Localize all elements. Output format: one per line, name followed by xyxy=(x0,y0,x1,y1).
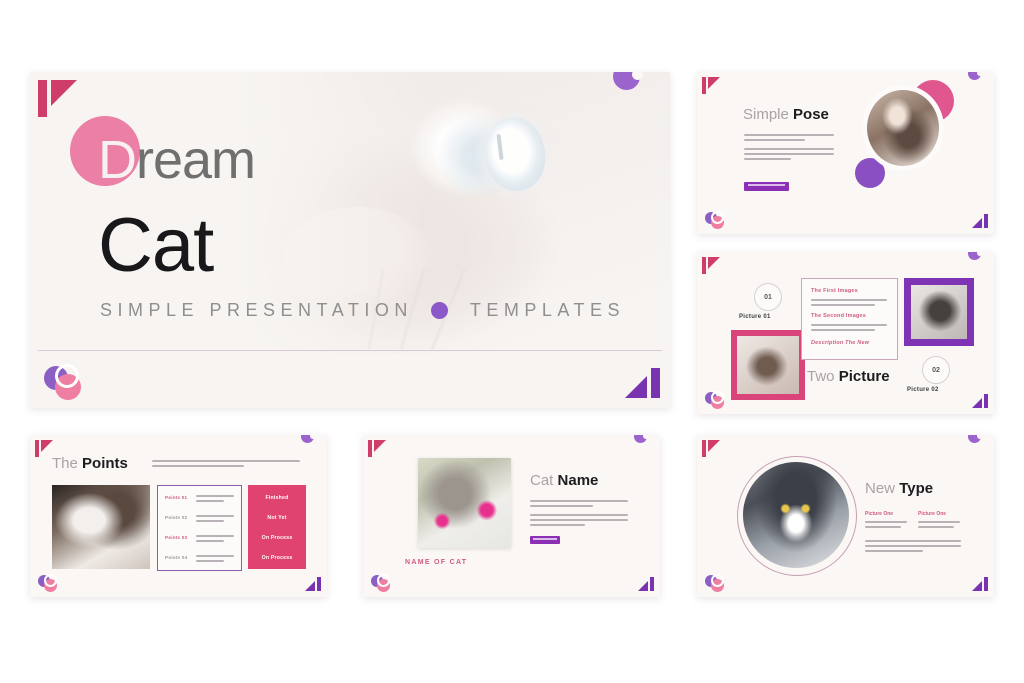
hero-title-cat: Cat xyxy=(98,207,213,285)
hero-subtitle: SIMPLE PRESENTATION TEMPLATES xyxy=(100,300,625,321)
body-line xyxy=(196,500,224,502)
column-1-heading: Picture One xyxy=(865,511,893,517)
slide-title-bold: Type xyxy=(899,480,933,497)
hero-divider xyxy=(38,350,662,351)
body-line xyxy=(744,153,834,155)
ornament-blob-bottom-left xyxy=(37,573,59,592)
column-2-body xyxy=(918,521,960,528)
slide-title-bold: Name xyxy=(558,472,599,489)
column-1-body xyxy=(865,521,907,528)
slide-title: New Type xyxy=(865,480,933,497)
body-line xyxy=(196,495,234,497)
body-line xyxy=(152,465,244,467)
body-line xyxy=(865,540,961,542)
slide-title: The Points xyxy=(52,455,128,472)
ornament-blob-bottom-left xyxy=(704,573,726,592)
hero-title-accent-letter: D xyxy=(98,130,136,190)
slide-cat-name[interactable]: NAME OF CAT Cat Name xyxy=(363,435,660,597)
body-line xyxy=(530,524,585,526)
body-paragraphs xyxy=(530,500,628,526)
body-line xyxy=(918,526,954,528)
point-label-4: Points 04 xyxy=(165,555,187,560)
marker-circle-01: 01 xyxy=(754,283,782,311)
body-line xyxy=(530,505,593,507)
slide-title-light: The xyxy=(52,455,78,472)
body-line xyxy=(865,521,907,523)
body-line xyxy=(811,324,887,326)
hero-subtitle-right: TEMPLATES xyxy=(470,300,625,321)
heading-second-images: The Second Images xyxy=(811,313,866,319)
slide-new-type[interactable]: New Type Picture One Picture One xyxy=(697,435,994,597)
slide-title-light: Simple xyxy=(743,106,789,123)
ornament-dot-top-right xyxy=(968,72,981,80)
slide-title-bold: Points xyxy=(82,455,128,472)
kitten-photo xyxy=(867,90,939,166)
ornament-blob-bottom-left xyxy=(704,390,726,409)
slide-title: Two Picture xyxy=(807,368,890,385)
presentation-preview-board: Dream Cat SIMPLE PRESENTATION TEMPLATES xyxy=(0,0,1024,683)
ornament-dot-top-right xyxy=(968,252,981,260)
body-line xyxy=(865,550,923,552)
slide-title: Simple Pose xyxy=(743,106,829,123)
marker-label-01: Picture 01 xyxy=(739,314,771,320)
heading-description: Description The New xyxy=(811,340,869,346)
body-line xyxy=(530,519,628,521)
body-line xyxy=(811,304,875,306)
points-list-box: Points 01 Points 02 Points 03 Points 04 xyxy=(157,485,242,571)
body-line xyxy=(865,545,961,547)
purple-dot-icon xyxy=(431,302,448,319)
hero-subtitle-left: SIMPLE PRESENTATION xyxy=(100,300,413,321)
body-line xyxy=(196,560,224,562)
body-line xyxy=(918,521,960,523)
ornament-blob-bottom-left xyxy=(42,362,86,400)
ornament-blob-bottom-left xyxy=(704,210,726,229)
marker-label-02: Picture 02 xyxy=(907,387,939,393)
slide-title-bold: Pose xyxy=(793,106,829,123)
point-label-3: Points 03 xyxy=(165,535,187,540)
more-info-button[interactable] xyxy=(530,536,560,544)
status-badge: On Process xyxy=(248,535,306,541)
button-label-bar xyxy=(748,184,785,186)
slide-title: Cat Name xyxy=(530,472,598,489)
slide-simple-pose[interactable]: Simple Pose xyxy=(697,72,994,234)
body-line xyxy=(196,515,234,517)
sleeping-cat-photo xyxy=(52,485,150,569)
slide-two-picture[interactable]: 01 Picture 01 02 Picture 02 The First Im… xyxy=(697,252,994,414)
marker-circle-02: 02 xyxy=(922,356,950,384)
status-badge: On Process xyxy=(248,555,306,561)
body-line xyxy=(530,500,628,502)
slide-title-light: Cat xyxy=(530,472,553,489)
body-line xyxy=(865,526,901,528)
hero-title-rest: ream xyxy=(136,130,255,190)
footer-paragraph xyxy=(865,540,961,552)
body-line xyxy=(744,158,791,160)
photo-caption: NAME OF CAT xyxy=(405,559,467,566)
body-line xyxy=(744,139,805,141)
ornament-dot-top-right xyxy=(301,435,314,443)
kitten-toy-photo xyxy=(418,458,511,548)
body-line xyxy=(530,514,628,516)
description-box: The First Images The Second Images Descr… xyxy=(801,278,898,360)
slide-the-points[interactable]: The Points Points 01 Points 02 Points 03… xyxy=(30,435,327,597)
body-line xyxy=(196,535,234,537)
hero-title-dream: Dream xyxy=(98,132,255,188)
ornament-blob-bottom-left xyxy=(370,573,392,592)
heading-first-images: The First Images xyxy=(811,288,858,294)
decor-circle-purple xyxy=(855,158,885,188)
slide-title-light: New xyxy=(865,480,895,497)
intro-paragraph xyxy=(152,460,300,467)
body-line xyxy=(196,520,224,522)
body-paragraphs xyxy=(744,134,834,160)
photo-right-purple-frame xyxy=(904,278,974,346)
status-badge: Finished xyxy=(248,495,306,501)
status-column: Finished Not Yet On Process On Process xyxy=(248,485,306,569)
slide-dream-cat-title[interactable]: Dream Cat SIMPLE PRESENTATION TEMPLATES xyxy=(30,72,670,408)
slide-title-bold: Picture xyxy=(839,368,890,385)
body-line xyxy=(744,134,834,136)
button-label-bar xyxy=(533,538,557,540)
read-more-button[interactable] xyxy=(744,182,789,191)
body-line xyxy=(811,329,875,331)
status-badge: Not Yet xyxy=(248,515,306,521)
body-line xyxy=(811,299,887,301)
body-line xyxy=(196,540,224,542)
body-line xyxy=(152,460,300,462)
slide-title-light: Two xyxy=(807,368,835,385)
point-label-1: Points 01 xyxy=(165,495,187,500)
body-line xyxy=(196,555,234,557)
point-label-2: Points 02 xyxy=(165,515,187,520)
longhair-cat-photo xyxy=(743,462,849,568)
ornament-dot-top-right xyxy=(634,435,647,443)
photo-left-pink-frame xyxy=(731,330,805,400)
ornament-dot-top-right xyxy=(968,435,981,443)
body-line xyxy=(744,148,834,150)
column-2-heading: Picture One xyxy=(918,511,946,517)
